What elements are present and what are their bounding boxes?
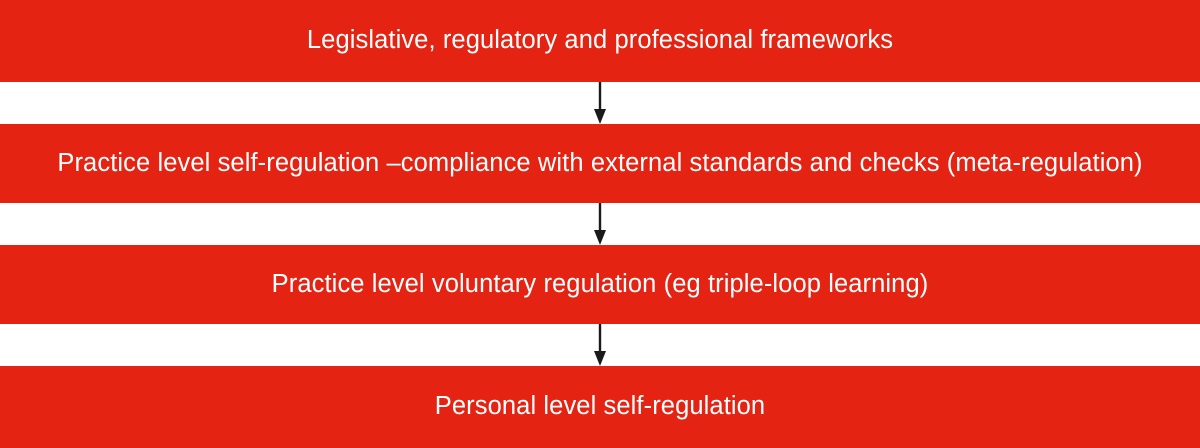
flow-connector-3 <box>0 324 1200 366</box>
flow-band-practice-self-regulation: Practice level self-regulation –complian… <box>0 124 1200 203</box>
flow-band-legislative: Legislative, regulatory and professional… <box>0 0 1200 82</box>
arrow-head-down-icon <box>594 351 606 366</box>
flow-connector-1 <box>0 82 1200 124</box>
flow-connector-2 <box>0 203 1200 245</box>
flow-band-label: Legislative, regulatory and professional… <box>307 26 893 55</box>
flow-band-label: Practice level voluntary regulation (eg … <box>272 270 929 299</box>
arrow-head-down-icon <box>594 109 606 124</box>
arrow-head-down-icon <box>594 230 606 245</box>
flow-band-personal-self-regulation: Personal level self-regulation <box>0 366 1200 448</box>
flow-band-label: Personal level self-regulation <box>435 392 765 421</box>
regulation-hierarchy-flowchart: Legislative, regulatory and professional… <box>0 0 1200 448</box>
flow-band-voluntary-regulation: Practice level voluntary regulation (eg … <box>0 245 1200 324</box>
flow-band-label: Practice level self-regulation –complian… <box>57 149 1142 178</box>
